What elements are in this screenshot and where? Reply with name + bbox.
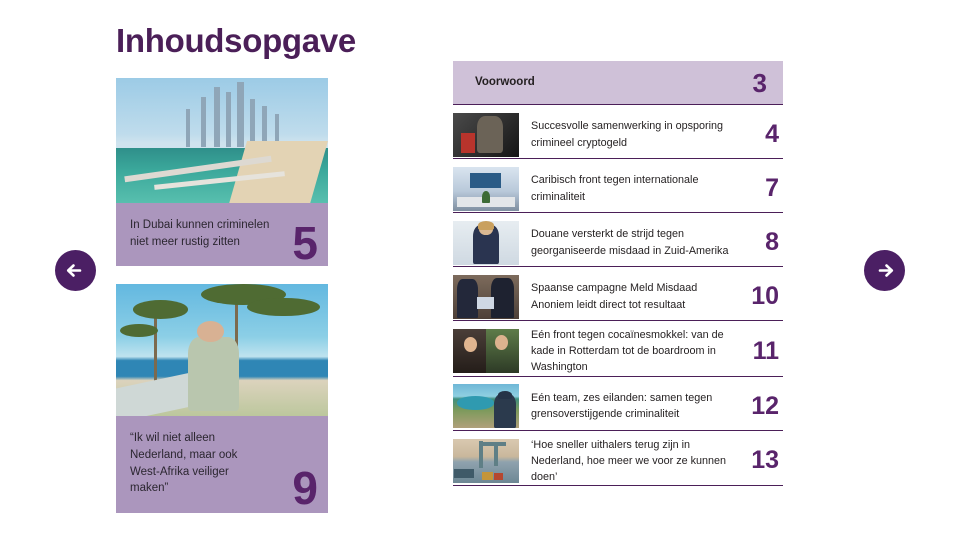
island-coast-officer-thumb bbox=[453, 384, 519, 428]
toc-row[interactable]: ‘Hoe sneller uithalers terug zijn in Ned… bbox=[453, 437, 783, 487]
toc-item-title: Spaanse campagne Meld Misdaad Anoniem le… bbox=[519, 280, 745, 312]
toc-item-page-number: 12 bbox=[745, 394, 783, 419]
toc-item-page-number: 8 bbox=[745, 230, 783, 255]
toc-item-title: Succesvolle samenwerking in opsporing cr… bbox=[519, 118, 745, 150]
port-container-terminal-thumb bbox=[453, 439, 519, 483]
conference-room-thumb bbox=[453, 167, 519, 211]
toc-item-title: Caribisch front tegen internationale cri… bbox=[519, 172, 745, 204]
man-beach-palm-trees-photo bbox=[116, 284, 328, 416]
feature-card-page-number: 9 bbox=[292, 465, 318, 511]
page-title: Inhoudsopgave bbox=[116, 22, 356, 60]
toc-item-page-number: 3 bbox=[733, 70, 771, 96]
feature-card-list: In Dubai kunnen criminelen niet meer rus… bbox=[116, 78, 328, 531]
toc-item-title: Eén team, zes eilanden: samen tegen gren… bbox=[519, 390, 745, 422]
feature-card-text: In Dubai kunnen criminelen niet meer rus… bbox=[130, 217, 270, 250]
toc-row[interactable]: Eén front tegen cocaïnesmokkel: van de k… bbox=[453, 327, 783, 377]
toc-item-page-number: 13 bbox=[745, 448, 783, 473]
arrow-left-icon bbox=[55, 250, 96, 291]
toc-item-title: Douane versterkt de strijd tegen georgan… bbox=[519, 226, 745, 258]
douane-officer-portrait-thumb bbox=[453, 221, 519, 265]
toc-item-title: ‘Hoe sneller uithalers terug zijn in Ned… bbox=[519, 437, 745, 486]
toc-item-page-number: 4 bbox=[745, 122, 783, 147]
toc-item-title: Voorwoord bbox=[475, 74, 733, 91]
table-of-contents-list: Voorwoord 3 Succesvolle samenwerking in … bbox=[453, 61, 783, 492]
arrow-right-icon bbox=[864, 250, 905, 291]
toc-item-page-number: 7 bbox=[745, 176, 783, 201]
toc-row-voorwoord[interactable]: Voorwoord 3 bbox=[453, 61, 783, 105]
toc-item-page-number: 11 bbox=[745, 339, 783, 364]
two-portraits-thumb bbox=[453, 329, 519, 373]
feature-card[interactable]: In Dubai kunnen criminelen niet meer rus… bbox=[116, 78, 328, 266]
toc-row[interactable]: Douane versterkt de strijd tegen georgan… bbox=[453, 219, 783, 267]
toc-row[interactable]: Caribisch front tegen internationale cri… bbox=[453, 165, 783, 213]
crypto-mining-raid-thumb bbox=[453, 113, 519, 157]
toc-item-title: Eén front tegen cocaïnesmokkel: van de k… bbox=[519, 327, 745, 376]
feature-card[interactable]: “Ik wil niet alleen Nederland, maar ook … bbox=[116, 284, 328, 513]
feature-card-text: “Ik wil niet alleen Nederland, maar ook … bbox=[130, 430, 270, 497]
dubai-marina-skyline-photo bbox=[116, 78, 328, 203]
toc-row[interactable]: Spaanse campagne Meld Misdaad Anoniem le… bbox=[453, 273, 783, 321]
toc-row[interactable]: Succesvolle samenwerking in opsporing cr… bbox=[453, 111, 783, 159]
next-page-button[interactable] bbox=[864, 250, 905, 291]
toc-item-page-number: 10 bbox=[745, 284, 783, 309]
toc-row[interactable]: Eén team, zes eilanden: samen tegen gren… bbox=[453, 383, 783, 431]
feature-card-page-number: 5 bbox=[292, 220, 318, 266]
award-handover-thumb bbox=[453, 275, 519, 319]
previous-page-button[interactable] bbox=[55, 250, 96, 291]
